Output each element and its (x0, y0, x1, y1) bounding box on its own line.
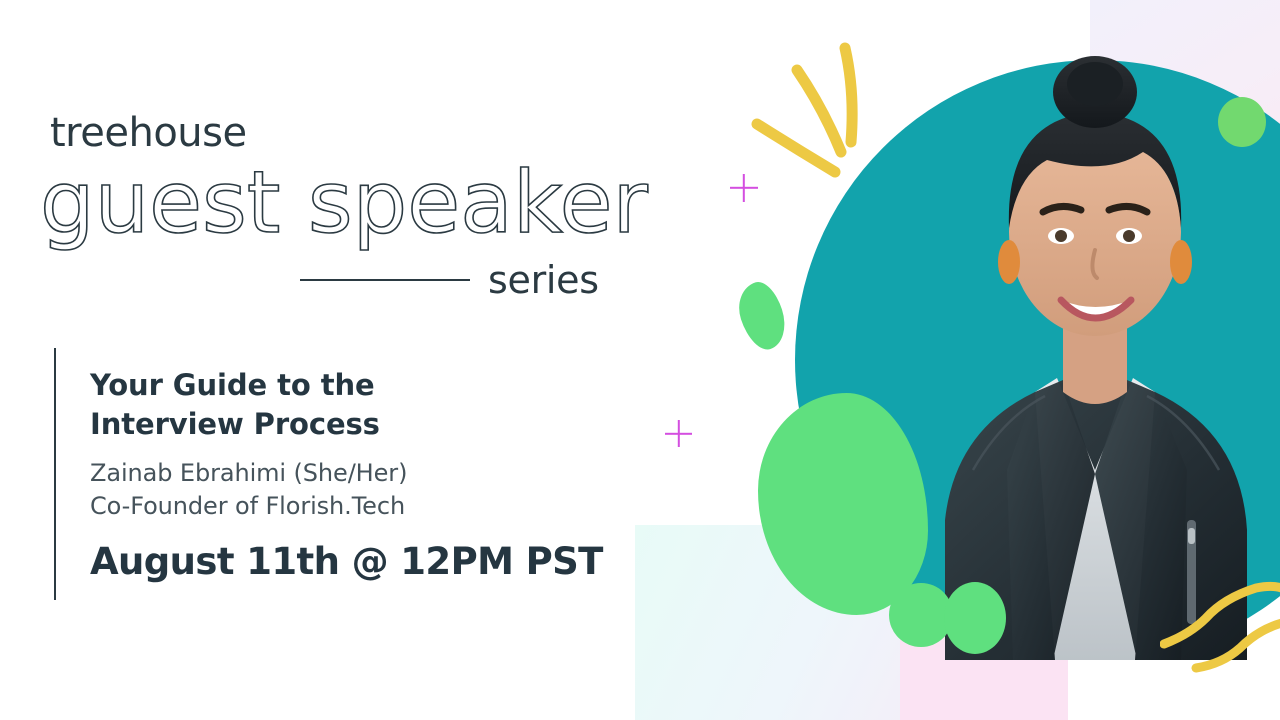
event-datetime: August 11th @ 12PM PST (90, 540, 630, 583)
talk-title-line-2: Interview Process (90, 405, 630, 444)
speaker-role: Co-Founder of Florish.Tech (90, 490, 630, 523)
page-title: guest speaker (40, 160, 648, 246)
content-column: treehouse guest speaker series Your Guid… (0, 0, 660, 720)
accent-vertical-rule (54, 348, 56, 600)
series-divider (300, 279, 470, 281)
yellow-squiggles-icon (1160, 578, 1280, 674)
promo-slide: treehouse guest speaker series Your Guid… (0, 0, 1280, 720)
magenta-plus-icon-2 (665, 420, 692, 447)
brand-wordmark: treehouse (50, 110, 247, 156)
green-dot-b (1218, 97, 1266, 147)
series-row: series (300, 252, 630, 308)
series-label: series (488, 258, 599, 302)
yellow-starburst-icon (735, 30, 915, 200)
speaker-name: Zainab Ebrahimi (She/Her) (90, 457, 630, 490)
talk-title-line-1: Your Guide to the (90, 366, 630, 405)
green-blob-small (732, 277, 793, 355)
event-details: Your Guide to the Interview Process Zain… (90, 366, 630, 583)
green-dot-a (944, 582, 1006, 654)
